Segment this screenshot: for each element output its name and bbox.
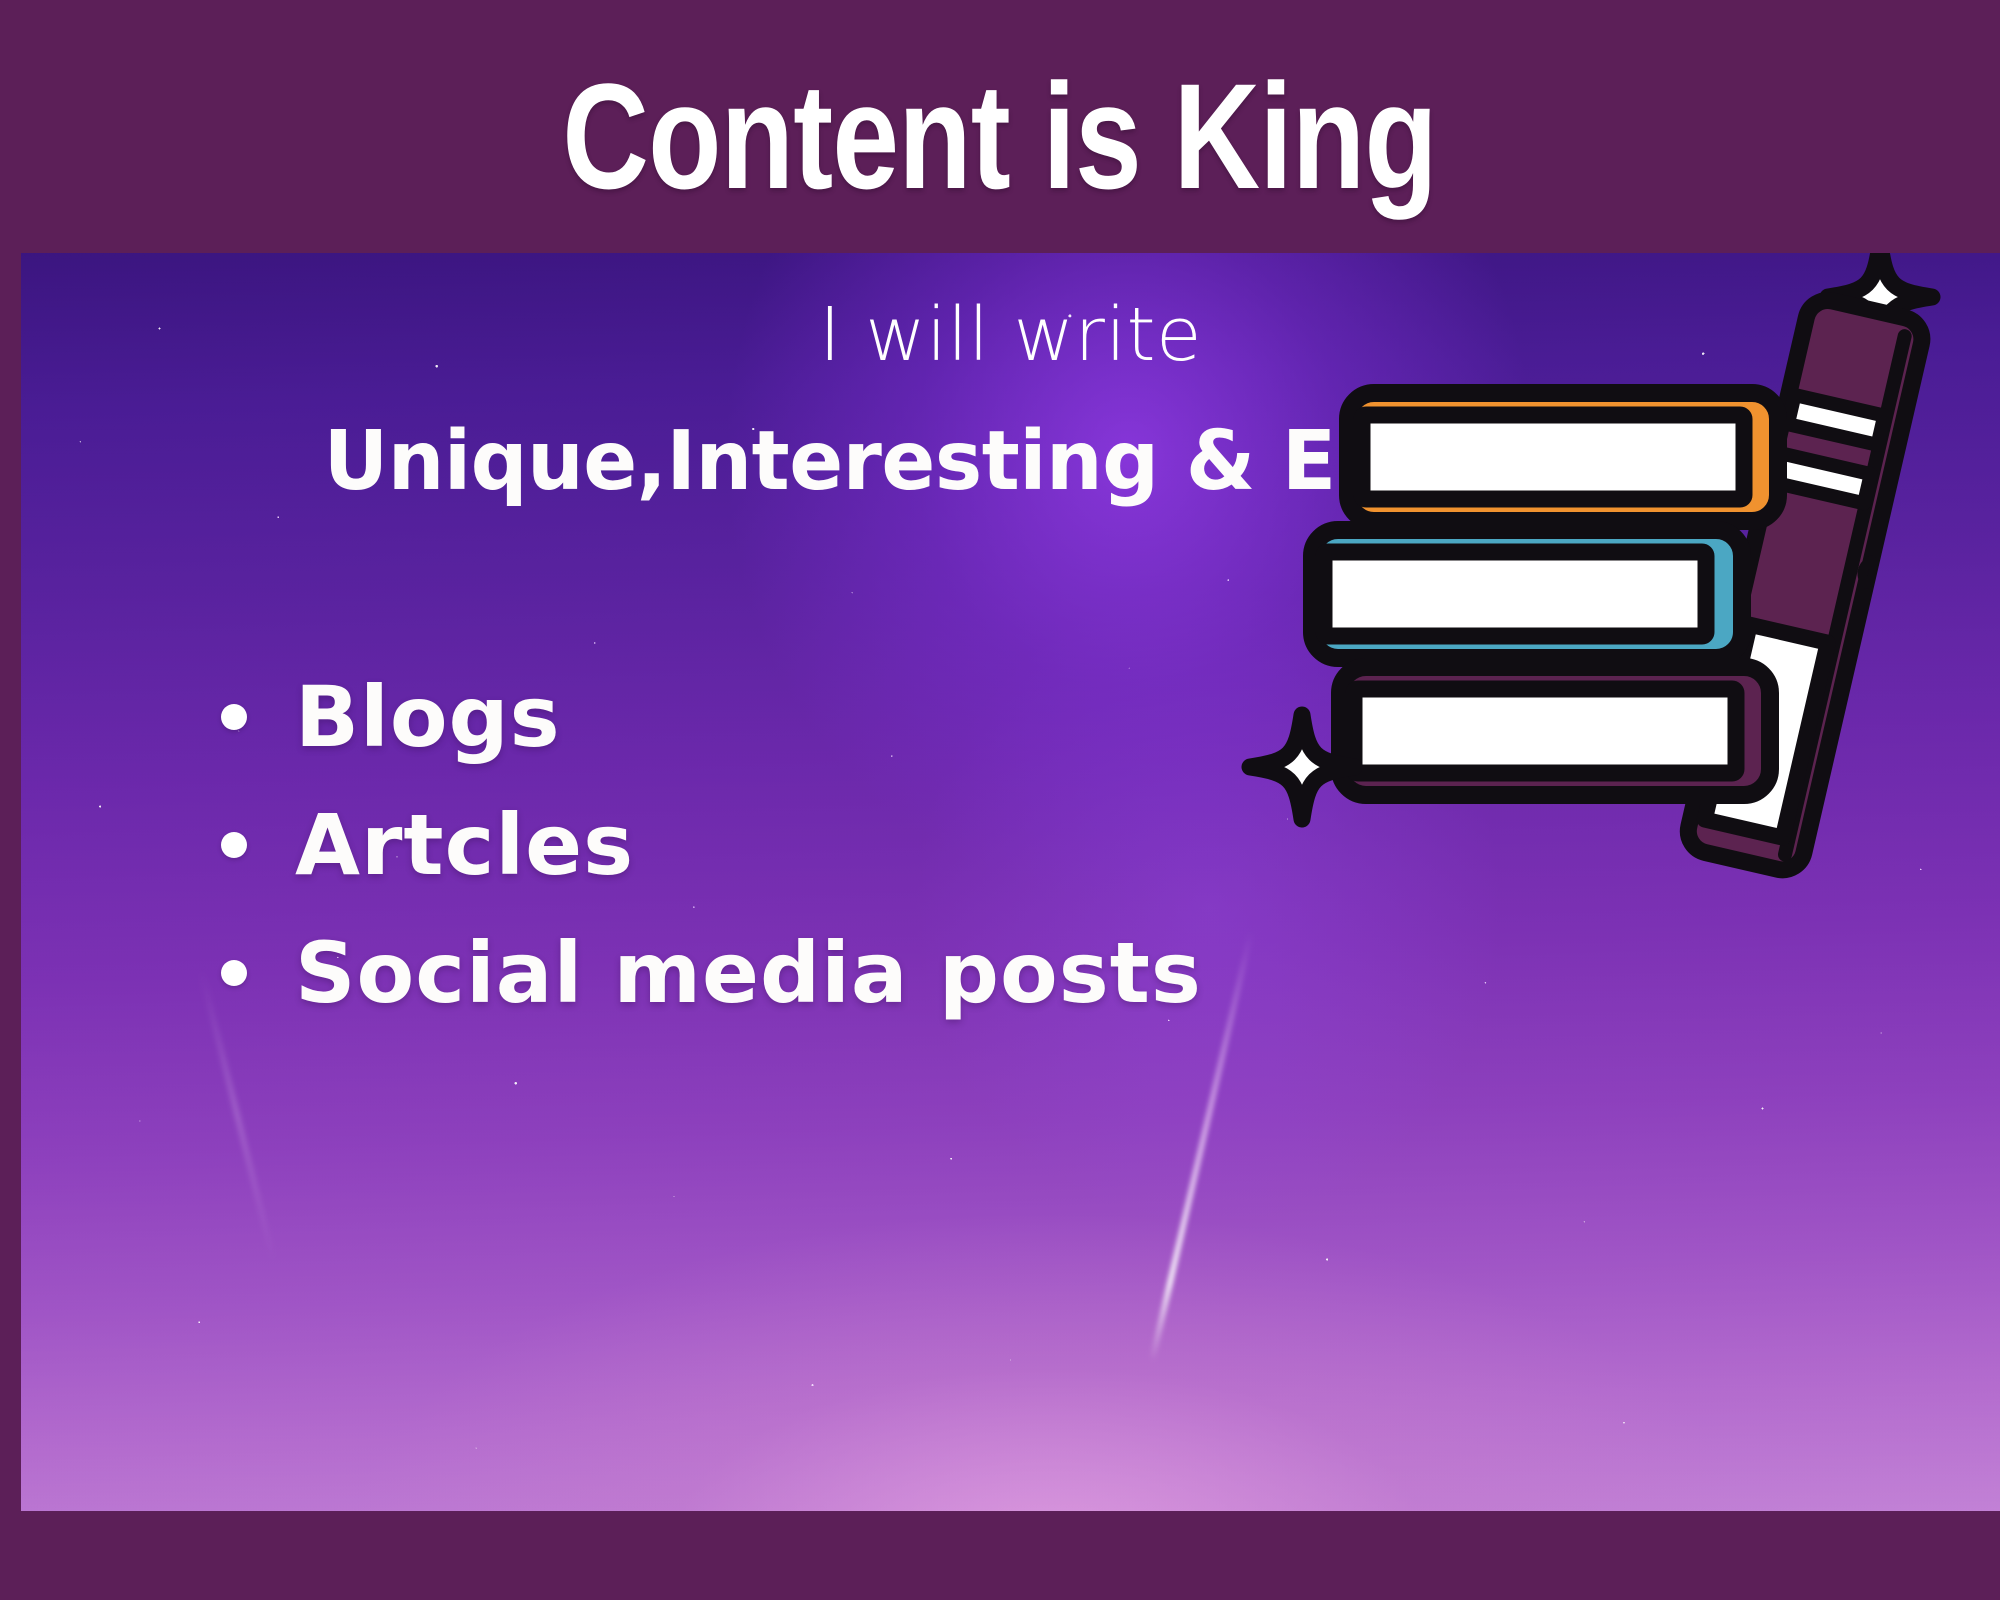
book-purple [1340, 667, 1770, 795]
poster-title: Content is King [563, 61, 1438, 211]
book-orange [1348, 393, 1778, 521]
service-label: Artcles [295, 803, 634, 887]
bullet-dot-icon [221, 832, 247, 858]
poster-canvas: Content is King I will write Unique,Inte… [0, 0, 2000, 1600]
frame-border-left [0, 253, 21, 1511]
bullet-dot-icon [221, 960, 247, 986]
bullet-dot-icon [221, 704, 247, 730]
title-band: Content is King [0, 0, 2000, 253]
list-item: Social media posts [221, 909, 1521, 1037]
book-teal [1312, 530, 1742, 658]
frame-border-bottom [0, 1511, 2000, 1600]
service-label: Social media posts [295, 931, 1202, 1015]
stacked-books-illustration [1280, 215, 2000, 855]
service-label: Blogs [295, 675, 561, 759]
